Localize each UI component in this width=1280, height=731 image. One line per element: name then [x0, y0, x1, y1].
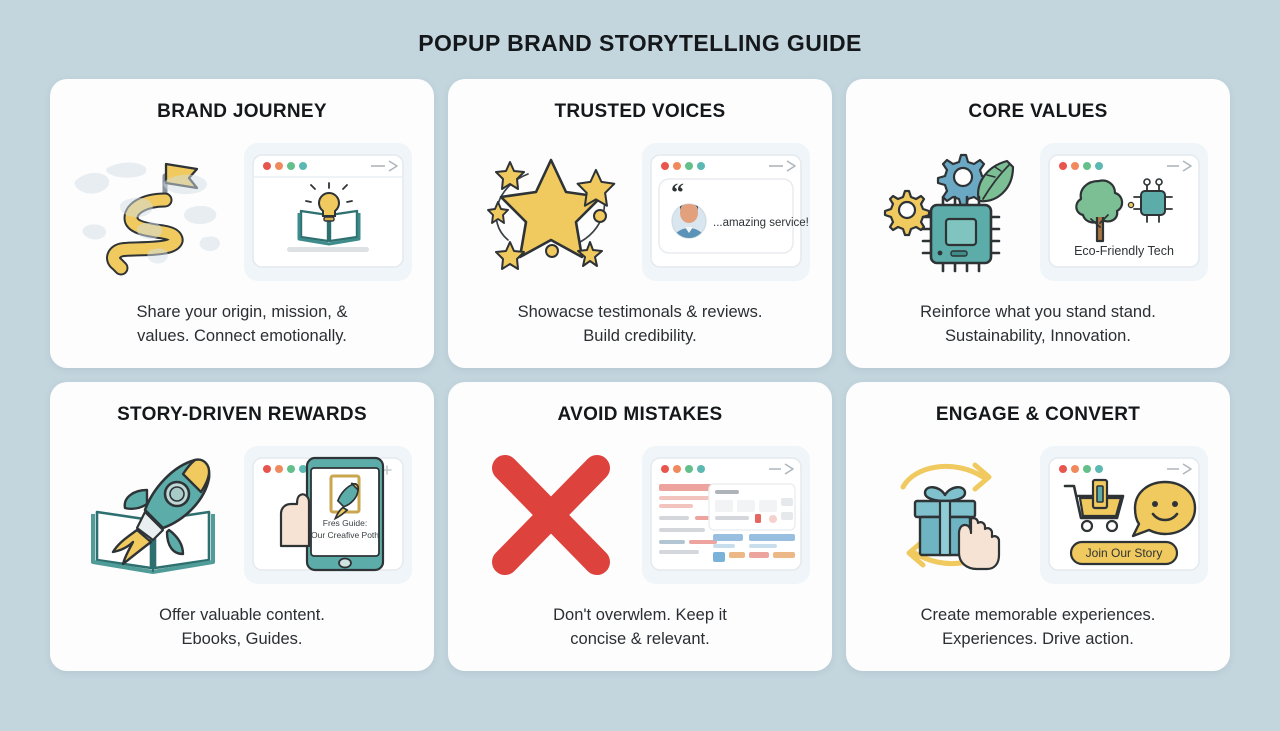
- gift-cycle-hand-icon: [865, 440, 1033, 590]
- mock-caption-text: Eco-Friendly Tech: [1074, 244, 1174, 258]
- window-dot-green: [685, 465, 693, 473]
- tablet-window-icon: Fres Guide: Our Creafive Poth: [251, 454, 405, 576]
- quote-text: ...amazing service!: [713, 217, 809, 229]
- card-core-values[interactable]: CORE VALUES: [846, 79, 1230, 368]
- rocket-over-book-icon: [83, 450, 223, 580]
- tablet-device-icon: Fres Guide: Our Creafive Poth: [307, 458, 383, 570]
- page-title: POPUP BRAND STORYTELLING GUIDE: [0, 30, 1280, 57]
- smiley-speech-bubble-icon: [1133, 482, 1195, 536]
- gears-leaf-chip-icon: [865, 137, 1033, 287]
- cta-button-label: Join Our Story: [1086, 546, 1163, 560]
- card-title: STORY-DRIVEN REWARDS: [117, 404, 367, 426]
- window-dot-orange: [275, 465, 283, 473]
- card-artwork: [462, 426, 818, 604]
- browser-window-cluttered-icon: [649, 454, 803, 576]
- card-trusted-voices[interactable]: TRUSTED VOICES: [448, 79, 832, 368]
- rocket-book-icon: [69, 440, 237, 590]
- card-caption: Create memorable experiences. Experience…: [921, 604, 1156, 655]
- card-caption: Reinforce what you stand stand. Sustaina…: [920, 301, 1156, 352]
- card-caption: Showacse testimonals & reviews. Build cr…: [518, 301, 763, 352]
- window-dot-teal: [299, 465, 307, 473]
- card-artwork: Eco-Friendly Tech: [860, 123, 1216, 301]
- card-title: BRAND JOURNEY: [157, 101, 327, 123]
- window-dot-red: [263, 162, 271, 170]
- star-cluster-icon: [467, 137, 635, 287]
- window-dot-green: [1083, 162, 1091, 170]
- window-dot-teal: [1095, 162, 1103, 170]
- window-dot-red: [661, 162, 669, 170]
- window-dot-teal: [299, 162, 307, 170]
- window-dot-teal: [697, 162, 705, 170]
- stars-orbit-icon: [480, 146, 622, 278]
- card-avoid-mistakes[interactable]: AVOID MISTAKES: [448, 382, 832, 671]
- quote-mark: “: [671, 178, 684, 207]
- cross-mark-icon: [489, 454, 613, 576]
- window-dot-green: [685, 162, 693, 170]
- card-title: TRUSTED VOICES: [555, 101, 726, 123]
- card-grid: BRAND JOURNEY: [50, 79, 1230, 671]
- window-dot-green: [1083, 465, 1091, 473]
- card-title: AVOID MISTAKES: [557, 404, 722, 426]
- window-dot-orange: [275, 162, 283, 170]
- window-dot-orange: [673, 162, 681, 170]
- infographic-page: POPUP BRAND STORYTELLING GUIDE BRAND JOU…: [0, 0, 1280, 731]
- browser-window-icon: [251, 151, 405, 273]
- tablet-caption-line1: Fres Guide:: [323, 518, 367, 528]
- tablet-caption-line2: Our Creafive Poth: [311, 530, 379, 540]
- window-dot-red: [263, 465, 271, 473]
- browser-mock-cta: Join Our Story: [1037, 440, 1212, 590]
- pointing-hand-icon: [959, 518, 999, 569]
- card-story-driven-rewards[interactable]: STORY-DRIVEN REWARDS: [50, 382, 434, 671]
- browser-window-icon: Eco-Friendly Tech: [1047, 151, 1201, 273]
- mock-caption-blur: [287, 247, 369, 252]
- leaf-icon: [978, 161, 1013, 201]
- gift-arrows-icon: [879, 451, 1019, 579]
- card-brand-journey[interactable]: BRAND JOURNEY: [50, 79, 434, 368]
- browser-window-icon: Join Our Story: [1047, 454, 1201, 576]
- window-dot-red: [661, 465, 669, 473]
- cta-button[interactable]: Join Our Story: [1071, 542, 1177, 564]
- browser-mock-brand-journey: [241, 137, 416, 287]
- gears-leaf-chip-illustration: [879, 147, 1019, 277]
- browser-mock-testimonial: “ ...amazing service!: [639, 137, 814, 287]
- browser-window-icon: “ ...amazing service!: [649, 151, 803, 273]
- world-map-backdrop-icon: [69, 137, 237, 287]
- card-caption: Offer valuable content. Ebooks, Guides.: [159, 604, 325, 655]
- window-dot-orange: [673, 465, 681, 473]
- card-artwork: Join Our Story: [860, 426, 1216, 604]
- window-dot-teal: [1095, 465, 1103, 473]
- card-title: ENGAGE & CONVERT: [936, 404, 1140, 426]
- card-engage-convert[interactable]: ENGAGE & CONVERT: [846, 382, 1230, 671]
- window-dot-green: [287, 162, 295, 170]
- window-dot-red: [1059, 162, 1067, 170]
- card-title: CORE VALUES: [968, 101, 1107, 123]
- card-artwork: Fres Guide: Our Creafive Poth: [64, 426, 420, 604]
- browser-mock-eco: Eco-Friendly Tech: [1037, 137, 1212, 287]
- tablet-mock-guide: Fres Guide: Our Creafive Poth: [241, 440, 416, 590]
- window-dot-green: [287, 465, 295, 473]
- card-artwork: [64, 123, 420, 301]
- window-dot-orange: [1071, 465, 1079, 473]
- card-caption: Share your origin, mission, & values. Co…: [137, 301, 348, 352]
- card-artwork: “ ...amazing service!: [462, 123, 818, 301]
- window-dot-orange: [1071, 162, 1079, 170]
- red-x-icon: [467, 440, 635, 590]
- card-caption: Don't overwlem. Keep it concise & releva…: [553, 604, 727, 655]
- window-dot-red: [1059, 465, 1067, 473]
- microchip-icon: [923, 197, 999, 271]
- browser-mock-cluttered: [639, 440, 814, 590]
- winding-path-flag-worldmap-icon: [69, 137, 237, 287]
- window-dot-teal: [697, 465, 705, 473]
